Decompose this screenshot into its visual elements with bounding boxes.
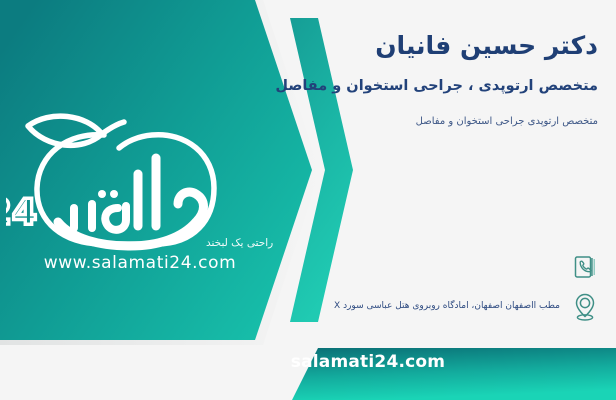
salamati24-logo: 24 به راحتی یک لبخند www.salamati24.com [6, 96, 274, 271]
doctor-specialty-secondary: متخصص ارتوپدی جراحی استخوان و مفاصل [256, 115, 598, 128]
logo-brand-wordmark [58, 158, 204, 246]
doctor-name: دکتر حسین فانیان [256, 30, 598, 61]
doctor-specialty-primary: متخصص ارتوپدی ، جراحی استخوان و مفاصل [256, 77, 598, 96]
footer-website[interactable]: salamati24.com [0, 352, 616, 372]
logo-artwork: 24 به راحتی یک لبخند www.salamati24.com [6, 96, 274, 271]
contact-block: مطب ااصفهان اصفهان، امادگاه روبروی هتل ع… [255, 250, 600, 324]
logo-24-text: 24 [6, 192, 37, 233]
contact-row-phone[interactable] [255, 250, 600, 284]
logo-tagline: به راحتی یک لبخند [206, 237, 274, 249]
phone-book-icon [570, 252, 600, 282]
contact-row-address[interactable]: مطب ااصفهان اصفهان، امادگاه روبروی هتل ع… [255, 290, 600, 324]
doctor-business-card: 24 به راحتی یک لبخند www.salamati24.com … [0, 0, 616, 400]
logo-website: www.salamati24.com [44, 253, 236, 271]
doctor-info-block: دکتر حسین فانیان متخصص ارتوپدی ، جراحی ا… [256, 30, 598, 128]
logo-24-badge: 24 [6, 192, 37, 233]
location-pin-icon [570, 292, 600, 322]
contact-address-text: مطب ااصفهان اصفهان، امادگاه روبروی هتل ع… [255, 301, 560, 313]
